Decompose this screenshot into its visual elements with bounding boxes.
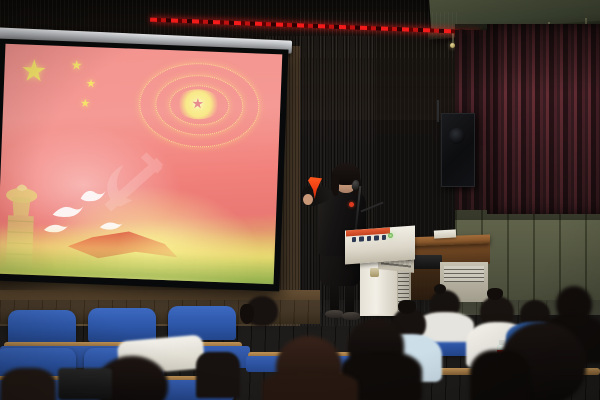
audience-ponytail [487, 288, 503, 300]
paper-stack [434, 229, 456, 238]
lectern-button[interactable] [374, 235, 378, 240]
seat-back[interactable] [88, 308, 156, 342]
curtain-shadow [455, 24, 600, 220]
equipment-cabinet-vents [444, 266, 484, 282]
audience-ponytail [398, 300, 416, 314]
audience-head [196, 352, 240, 398]
presenter-shoe-left [325, 310, 343, 318]
audience-hair-bun [434, 284, 446, 294]
dove-graphic-2 [77, 183, 108, 208]
lectern-emblem [370, 268, 379, 277]
presenter-leg-left [330, 282, 339, 312]
presenter-hand [303, 194, 313, 205]
lectern-button[interactable] [382, 235, 386, 240]
center-star: ★ [191, 96, 204, 110]
flag-star-small-1: ★ [71, 58, 83, 71]
flag-star-small-2: ★ [86, 79, 96, 90]
speaker-mount-bracket [437, 100, 439, 122]
presenter-shoe-right [342, 312, 360, 320]
lectern-button[interactable] [359, 236, 363, 241]
lectern-button[interactable] [352, 237, 356, 242]
slide-bottom-glow [0, 222, 275, 285]
presenter-lapel-badge [349, 202, 354, 207]
presenter-leg-right [345, 282, 354, 312]
audience-shoulders-foreground [262, 372, 358, 400]
flag-star-large: ★ [20, 56, 48, 87]
audience-ponytail [240, 304, 254, 324]
lectern-button[interactable] [367, 236, 371, 241]
seat-back[interactable] [168, 306, 236, 340]
flag-star-small-3: ★ [80, 99, 90, 110]
seat-back[interactable] [8, 310, 76, 344]
projection-screen: ★ ★ ★ ★ ★ [0, 44, 282, 284]
audience-hair-foreground [470, 350, 530, 400]
auditorium-photo: ★ ★ ★ ★ ★ [0, 0, 600, 400]
presenter-hair-side-left [331, 174, 339, 196]
dark-bag [58, 368, 112, 400]
audience-head-foreground [0, 368, 56, 400]
speaker-cone [449, 128, 465, 144]
wall-speaker-icon [441, 113, 475, 187]
